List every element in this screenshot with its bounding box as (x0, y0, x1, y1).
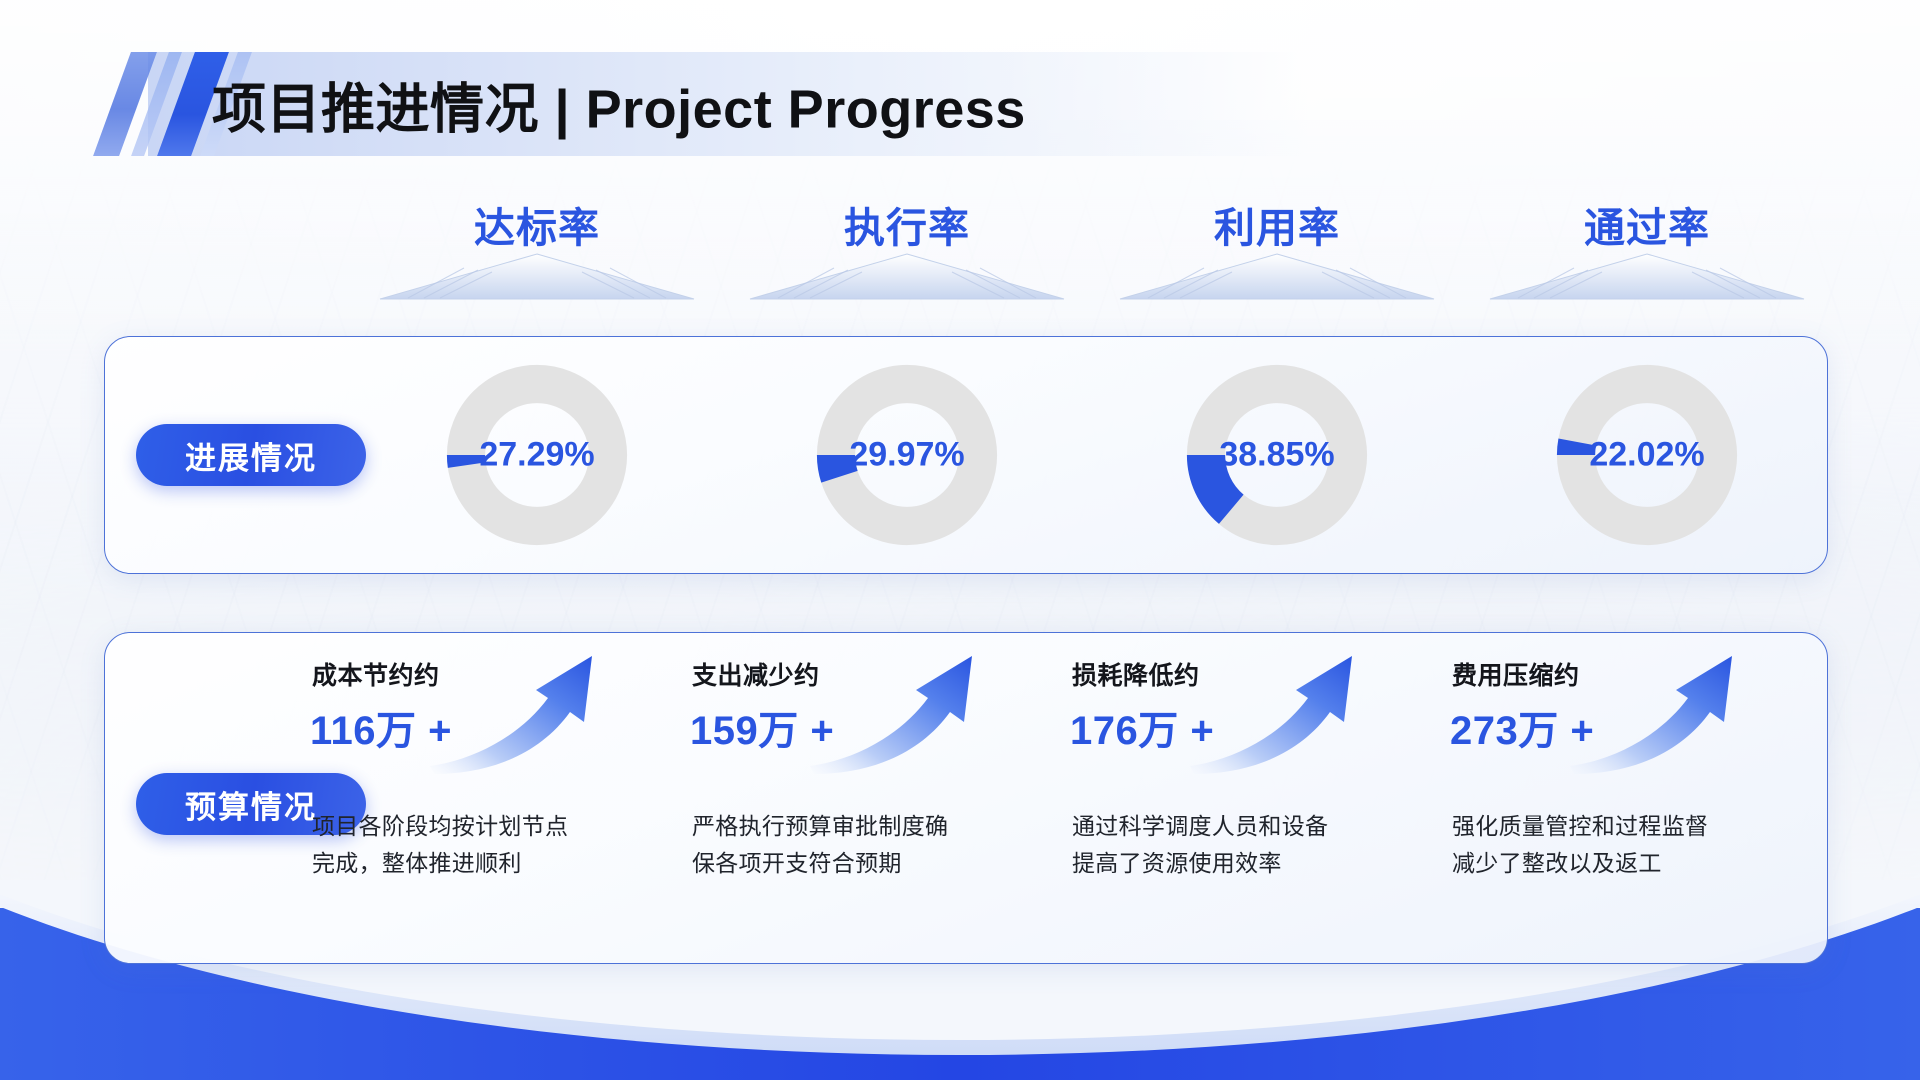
budget-cell-cost-saving: 成本节约约 116万 + 项目各阶段均按计划节点完成，整体推进顺利 (300, 648, 680, 958)
donut-value: 22.02% (1589, 436, 1704, 475)
tab-utilization-rate[interactable]: 利用率 (1092, 196, 1462, 302)
budget-label: 成本节约约 (312, 656, 440, 692)
donut-cell: 29.97% (722, 336, 1092, 574)
budget-cell-fee-compression: 费用压缩约 273万 + 强化质量管控和过程监督减少了整改以及返工 (1440, 648, 1820, 958)
tab-achievement-rate[interactable]: 达标率 (352, 196, 722, 302)
tab-row: 达标率 执行率 利用率 通过率 (352, 196, 1832, 302)
donut-value: 38.85% (1219, 436, 1334, 475)
rising-arrow-icon (804, 638, 1004, 778)
budget-description: 通过科学调度人员和设备提高了资源使用效率 (1072, 808, 1340, 883)
budget-row: 成本节约约 116万 + 项目各阶段均按计划节点完成，整体推进顺利 支出减少约 … (300, 648, 1860, 958)
donut-cell: 22.02% (1462, 336, 1832, 574)
tab-pedestal-icon (748, 252, 1066, 302)
donut-value: 27.29% (479, 436, 594, 475)
budget-description: 强化质量管控和过程监督减少了整改以及返工 (1452, 808, 1720, 883)
rising-arrow-icon (1564, 638, 1764, 778)
donut-cell: 27.29% (352, 336, 722, 574)
budget-label: 费用压缩约 (1452, 656, 1580, 692)
tab-pedestal-icon (378, 252, 696, 302)
tab-label: 利用率 (1092, 194, 1462, 254)
budget-cell-expense-reduction: 支出减少约 159万 + 严格执行预算审批制度确保各项开支符合预期 (680, 648, 1060, 958)
budget-description: 项目各阶段均按计划节点完成，整体推进顺利 (312, 808, 580, 883)
donut-cell: 38.85% (1092, 336, 1462, 574)
rising-arrow-icon (1184, 638, 1384, 778)
tab-label: 执行率 (722, 194, 1092, 254)
budget-cell-loss-reduction: 损耗降低约 176万 + 通过科学调度人员和设备提高了资源使用效率 (1060, 648, 1440, 958)
rising-arrow-icon (424, 638, 624, 778)
tab-execution-rate[interactable]: 执行率 (722, 196, 1092, 302)
donut-row: 27.29% 29.97% 38.85% 22.02% (352, 336, 1832, 574)
page-title: 项目推进情况 | Project Progress (212, 65, 1026, 144)
budget-label: 损耗降低约 (1072, 656, 1200, 692)
tab-pass-rate[interactable]: 通过率 (1462, 196, 1832, 302)
slide-header: 项目推进情况 | Project Progress (0, 52, 1920, 156)
donut-value: 29.97% (849, 436, 964, 475)
progress-badge: 进展情况 (136, 424, 366, 486)
tab-pedestal-icon (1488, 252, 1806, 302)
tab-pedestal-icon (1118, 252, 1436, 302)
budget-description: 严格执行预算审批制度确保各项开支符合预期 (692, 808, 960, 883)
tab-label: 达标率 (352, 194, 722, 254)
tab-label: 通过率 (1462, 194, 1832, 254)
budget-label: 支出减少约 (692, 656, 820, 692)
